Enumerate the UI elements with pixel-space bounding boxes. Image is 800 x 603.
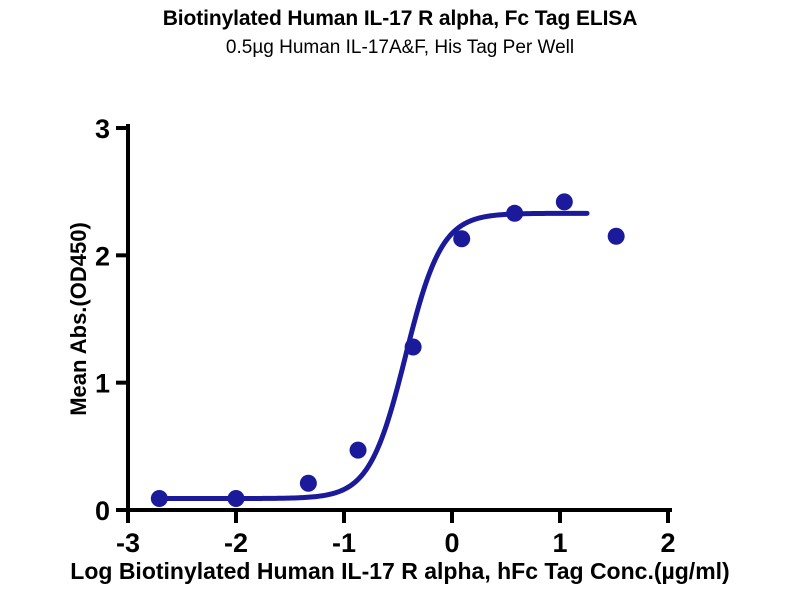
data-point xyxy=(228,490,245,507)
data-point xyxy=(506,205,523,222)
data-point xyxy=(608,228,625,245)
y-tick-label: 0 xyxy=(95,496,110,526)
data-point xyxy=(300,475,317,492)
x-axis-title-area: Log Biotinylated Human IL-17 R alpha, hF… xyxy=(0,553,800,603)
data-point xyxy=(350,442,367,459)
data-point xyxy=(556,193,573,210)
y-tick-label: 3 xyxy=(95,114,110,144)
y-tick-label: 1 xyxy=(95,369,110,399)
x-axis-title: Log Biotinylated Human IL-17 R alpha, hF… xyxy=(70,558,729,584)
sigmoid-fit-curve xyxy=(157,213,587,498)
data-point-group xyxy=(151,193,625,507)
plot-area: 0123 -3-2-1012 Mean Abs.(OD450) xyxy=(0,0,800,600)
y-axis-tick-labels: 0123 xyxy=(95,114,110,526)
data-point xyxy=(151,490,168,507)
elisa-chart-figure: Biotinylated Human IL-17 R alpha, Fc Tag… xyxy=(0,0,800,600)
data-point xyxy=(405,339,422,356)
data-point xyxy=(453,230,470,247)
y-tick-label: 2 xyxy=(95,241,110,271)
y-axis-title: Mean Abs.(OD450) xyxy=(66,222,91,416)
